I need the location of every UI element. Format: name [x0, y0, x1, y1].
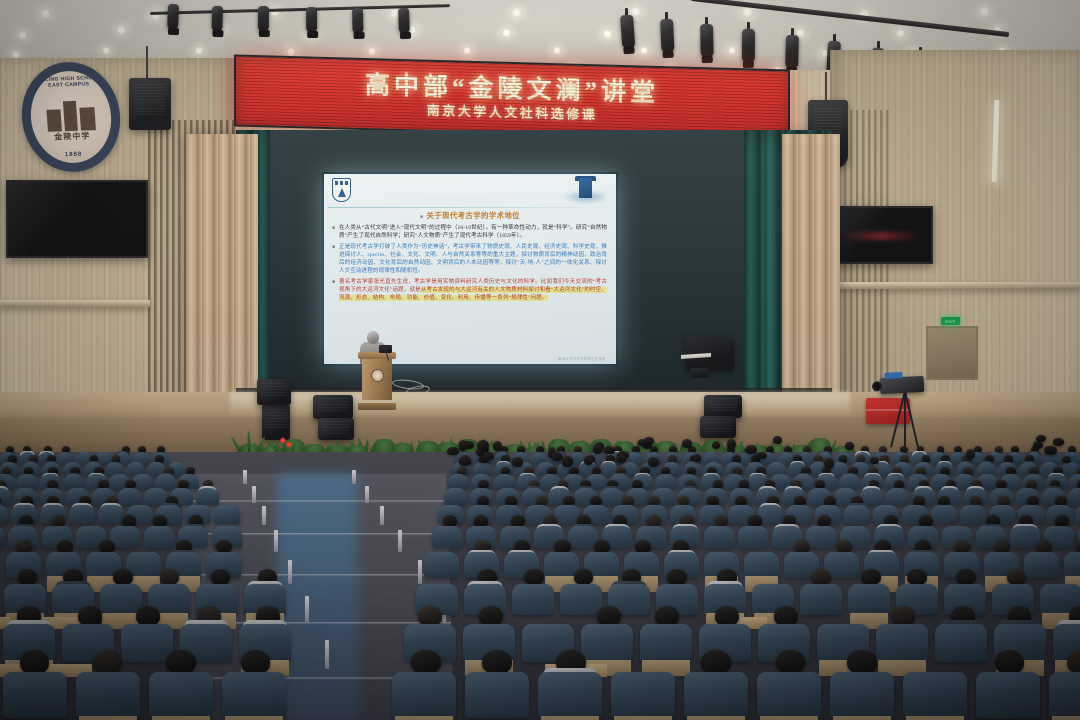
auditorium-seat: [494, 474, 515, 489]
audience-head: [411, 650, 440, 674]
aisle-rail-post: [325, 640, 329, 669]
wall-monitor-left: [6, 180, 148, 258]
auditorium-seat: [844, 505, 870, 524]
aisle-rail-post: [352, 470, 356, 484]
aisle-rail-post: [252, 486, 256, 503]
auditorium-seat: [424, 552, 459, 578]
auditorium-seat: [806, 526, 836, 548]
audience-head-far: [512, 457, 523, 467]
slide-bullet-3-text: 著名考古学家张光直先生说，考古学是用实物资料研究人类历史与文化的科学。比如我们今…: [339, 278, 607, 302]
bullet-marker-icon: ■: [332, 278, 339, 302]
auditorium-seat: [17, 474, 38, 489]
audience-head-far: [477, 440, 489, 450]
audience-head-far: [845, 442, 853, 450]
audience-head: [667, 569, 686, 585]
camera-lens-icon: [872, 381, 883, 392]
slide-title-text: 关于现代考古学的学术地位: [426, 211, 520, 220]
auditorium-seat: [3, 672, 67, 718]
audience-head: [701, 650, 730, 674]
exit-sign: EXIT: [941, 317, 960, 325]
lectern-emblem: [371, 369, 384, 382]
downlight: [978, 6, 991, 15]
stage-monitor-left-lower: [318, 418, 354, 440]
floor-speaker-left-top: [257, 379, 291, 405]
stage-spotlight: [785, 35, 799, 69]
auditorium-seat: [903, 672, 967, 718]
slide-divider: [328, 207, 616, 208]
auditorium-seat: [214, 505, 240, 524]
aisle-rail-post: [262, 506, 266, 525]
campus-gate-watermark-icon: [568, 176, 604, 206]
slide-bullet-1-text: 在人类从“古代文明”进入“现代文明”的过程中（16-18世纪），有一种革命性动力…: [339, 224, 607, 240]
audience-head: [907, 569, 926, 585]
stage-spotlight: [258, 6, 269, 32]
auditorium-seat: [757, 672, 821, 718]
audience-head-far: [773, 436, 782, 444]
audience-head-far: [1036, 435, 1045, 443]
audience-head: [160, 569, 179, 585]
audience-head-far: [562, 456, 573, 467]
auditorium-seat: [935, 624, 987, 662]
audience-head: [418, 606, 442, 626]
auditorium-seat: [684, 672, 748, 718]
auditorium-seat: [640, 624, 692, 662]
auditorium-seat: [1049, 672, 1080, 718]
downlight: [602, 30, 613, 38]
auditorium-seat: [144, 526, 174, 548]
auditorium-seat: [1024, 552, 1059, 578]
auditorium-seat: [98, 505, 124, 524]
audience-head-far: [682, 439, 692, 448]
aisle-rail-post: [380, 506, 384, 525]
audience-head: [1067, 650, 1080, 674]
audience-head: [524, 569, 543, 585]
audience-head-far: [1033, 441, 1043, 449]
audience-head-far: [459, 440, 468, 451]
stage-monitor-right-lower: [700, 416, 736, 438]
audience-head-far: [648, 457, 660, 467]
camera-tripod: [888, 391, 924, 451]
presenter-head: [367, 331, 379, 344]
camera-top-panel: [884, 372, 902, 379]
audience-head-far: [824, 458, 834, 469]
auditorium-seat: [976, 672, 1040, 718]
audience-head-far: [712, 441, 720, 449]
aisle-rail-post: [288, 560, 292, 584]
auditorium-seat: [465, 672, 529, 718]
auditorium-seat: [118, 488, 141, 505]
audience-head: [136, 606, 160, 626]
audience-head: [166, 650, 195, 674]
left-wall-ledge: [0, 300, 150, 307]
slide-bullet-3: ■ 著名考古学家张光直先生说，考古学是用实物资料研究人类历史与文化的科学。比如我…: [324, 278, 616, 302]
nju-shield-logo-icon: [332, 178, 351, 202]
downlight: [39, 9, 52, 18]
auditorium-seat: [432, 526, 462, 548]
exit-sign-label: EXIT: [945, 319, 955, 324]
audience-head-far: [459, 456, 471, 465]
auditorium-seat: [860, 488, 883, 505]
audience-head-far: [447, 447, 459, 455]
bullet-marker-icon: ■: [332, 243, 339, 275]
auditorium-seat: [196, 488, 219, 505]
auditorium-seat: [512, 584, 554, 615]
piano-bench: [691, 368, 708, 378]
aisle-light-runner: [276, 474, 359, 720]
auditorium-seat: [155, 474, 176, 489]
audience-head: [847, 650, 876, 674]
emblem-building-icon: [44, 96, 98, 132]
aisle-rail-post: [274, 530, 278, 552]
aisle-rail-post: [305, 596, 309, 623]
aisle-rail-post: [365, 486, 369, 503]
aisle-rail-post: [398, 530, 402, 552]
audience-head-far: [551, 452, 563, 462]
audience-head-far: [584, 456, 593, 465]
audience-head-far: [1062, 456, 1072, 463]
audience-head: [811, 569, 830, 585]
stage-spotlight: [352, 8, 364, 34]
audience-head: [956, 569, 975, 585]
auditorium-seat: [655, 474, 676, 489]
slide-bullet-1: ■ 在人类从“古代文明”进入“现代文明”的过程中（16-18世纪），有一种革命性…: [324, 224, 616, 240]
emblem-year: 1888: [33, 151, 113, 160]
right-wall-ledge: [830, 282, 1080, 289]
audience-head: [861, 569, 880, 585]
auditorium-seat: [149, 672, 213, 718]
audience-head-far: [1044, 446, 1053, 453]
auditorium-seat: [960, 505, 986, 524]
audience-head-far: [745, 445, 757, 455]
auditorium-seat: [830, 672, 894, 718]
auditorium-seat: [600, 488, 623, 505]
side-drape-right: [782, 134, 840, 414]
video-camera: [880, 376, 925, 394]
downlight: [895, 29, 906, 37]
school-emblem: JINLING HIGH SCHOOL EAST CAMPUS 金陵中学 188…: [18, 60, 124, 173]
stage-spotlight: [660, 19, 675, 54]
audience-head-far: [693, 454, 702, 461]
wall-monitor-right: [833, 206, 933, 264]
auditorium-seat: [738, 526, 768, 548]
audience-head-far: [727, 439, 735, 450]
stage-spotlight: [742, 29, 755, 63]
audience-head: [482, 650, 511, 674]
slide-header: [324, 174, 616, 208]
downlight: [286, 48, 296, 55]
auditorium-seat: [1068, 488, 1080, 505]
led-banner: 高中部“金陵文澜”讲堂 南京大学人文社科选修课: [234, 54, 790, 141]
audience-head: [479, 606, 503, 626]
exit-doorway[interactable]: [926, 326, 978, 380]
auditorium-seat: [560, 584, 602, 615]
stage-spotlight: [620, 15, 635, 50]
auditorium-seat: [76, 672, 140, 718]
auditorium-seat: [392, 672, 456, 718]
downlight: [639, 47, 649, 54]
auditorium-seat: [554, 505, 580, 524]
audience-head: [774, 606, 798, 626]
auditorium-seat: [704, 526, 734, 548]
auditorium-seat: [839, 474, 860, 489]
audience-head: [597, 606, 621, 626]
auditorium-seat: [876, 624, 928, 662]
auditorium-seat: [100, 584, 142, 615]
stage-spotlight: [167, 4, 179, 30]
audience-head-far: [1053, 438, 1064, 445]
upright-piano: [686, 337, 734, 370]
audience-head-far: [644, 437, 654, 444]
slide-body: ■关于现代考古学的学术地位 ■ 在人类从“古代文明”进入“现代文明”的过程中（1…: [324, 210, 616, 304]
downlight: [552, 47, 562, 54]
auditorium-seat: [800, 584, 842, 615]
auditorium-seat: [444, 488, 467, 505]
auditorium-seat: [886, 488, 909, 505]
downlight: [116, 26, 127, 34]
slide-bullet-2-text: 正是现代考古学打破了人类作为“历史神话”，考古学带来了物质史观、人民史观、经济史…: [339, 243, 607, 275]
auditorium-seat: [448, 474, 469, 489]
audience-head: [211, 569, 230, 585]
audience-head: [655, 606, 679, 626]
audience-head: [241, 650, 270, 674]
audience-head: [776, 650, 805, 674]
downlight: [741, 7, 754, 16]
auditorium-seat: [744, 552, 779, 578]
auditorium-photo-scene: JINLING HIGH SCHOOL EAST CAMPUS 金陵中学 188…: [0, 0, 1080, 720]
stage-monitor-right: [704, 395, 742, 418]
downlight: [727, 47, 737, 54]
audience-head: [93, 650, 122, 674]
audience-head: [715, 606, 739, 626]
auditorium-seat: [1064, 552, 1080, 578]
auditorium-seat: [581, 624, 633, 662]
slide-bullet-2: ■ 正是现代考古学打破了人类作为“历史神话”，考古学带来了物质史观、人民史观、经…: [324, 243, 616, 275]
audience-head-far: [756, 452, 767, 459]
wall-speaker-left: [129, 78, 171, 130]
bullet-marker-icon: ■: [332, 224, 339, 240]
auditorium-seat: [848, 584, 890, 615]
audience-head: [18, 569, 37, 585]
audience-head-far: [493, 441, 503, 451]
stage-spotlight: [700, 24, 714, 58]
audience-head: [995, 650, 1024, 674]
audience-head-far: [603, 446, 615, 454]
speaker-hanger-left: [146, 46, 148, 82]
auditorium-seat: [222, 672, 286, 718]
auditorium-seat: [69, 505, 95, 524]
emblem-chinese-name: 金陵中学: [32, 130, 113, 144]
aisle-rail-post: [243, 470, 247, 484]
auditorium-seat: [121, 624, 173, 662]
side-drape-left: [186, 134, 258, 414]
audience-head: [891, 606, 915, 626]
audience-head-far: [966, 449, 975, 459]
aisle-rail-post: [418, 560, 422, 584]
slide-footer: 南京大学历史学院考古文物系: [558, 356, 606, 361]
audience-head-far: [870, 457, 878, 464]
auditorium-seat: [538, 672, 602, 718]
downlight: [11, 51, 21, 58]
stage-spotlight: [306, 7, 317, 33]
slide-title: ■关于现代考古学的学术地位: [324, 210, 616, 221]
audience-head: [574, 569, 593, 585]
audience-head-far: [593, 444, 603, 454]
auditorium-seat: [611, 672, 675, 718]
stage-monitor-left: [313, 395, 353, 419]
audience-head: [20, 650, 49, 674]
audience-head: [113, 569, 132, 585]
stage-spotlight: [398, 8, 410, 34]
audience-head: [78, 606, 102, 626]
auditorium-seat: [931, 505, 957, 524]
auditorium-seat: [63, 474, 84, 489]
downlight: [17, 31, 28, 39]
emblem-ring-text: JINLING HIGH SCHOOL EAST CAMPUS: [28, 75, 109, 90]
stage-spotlight: [211, 6, 223, 32]
audience-head: [1007, 569, 1026, 585]
audience-head-far: [616, 455, 625, 463]
